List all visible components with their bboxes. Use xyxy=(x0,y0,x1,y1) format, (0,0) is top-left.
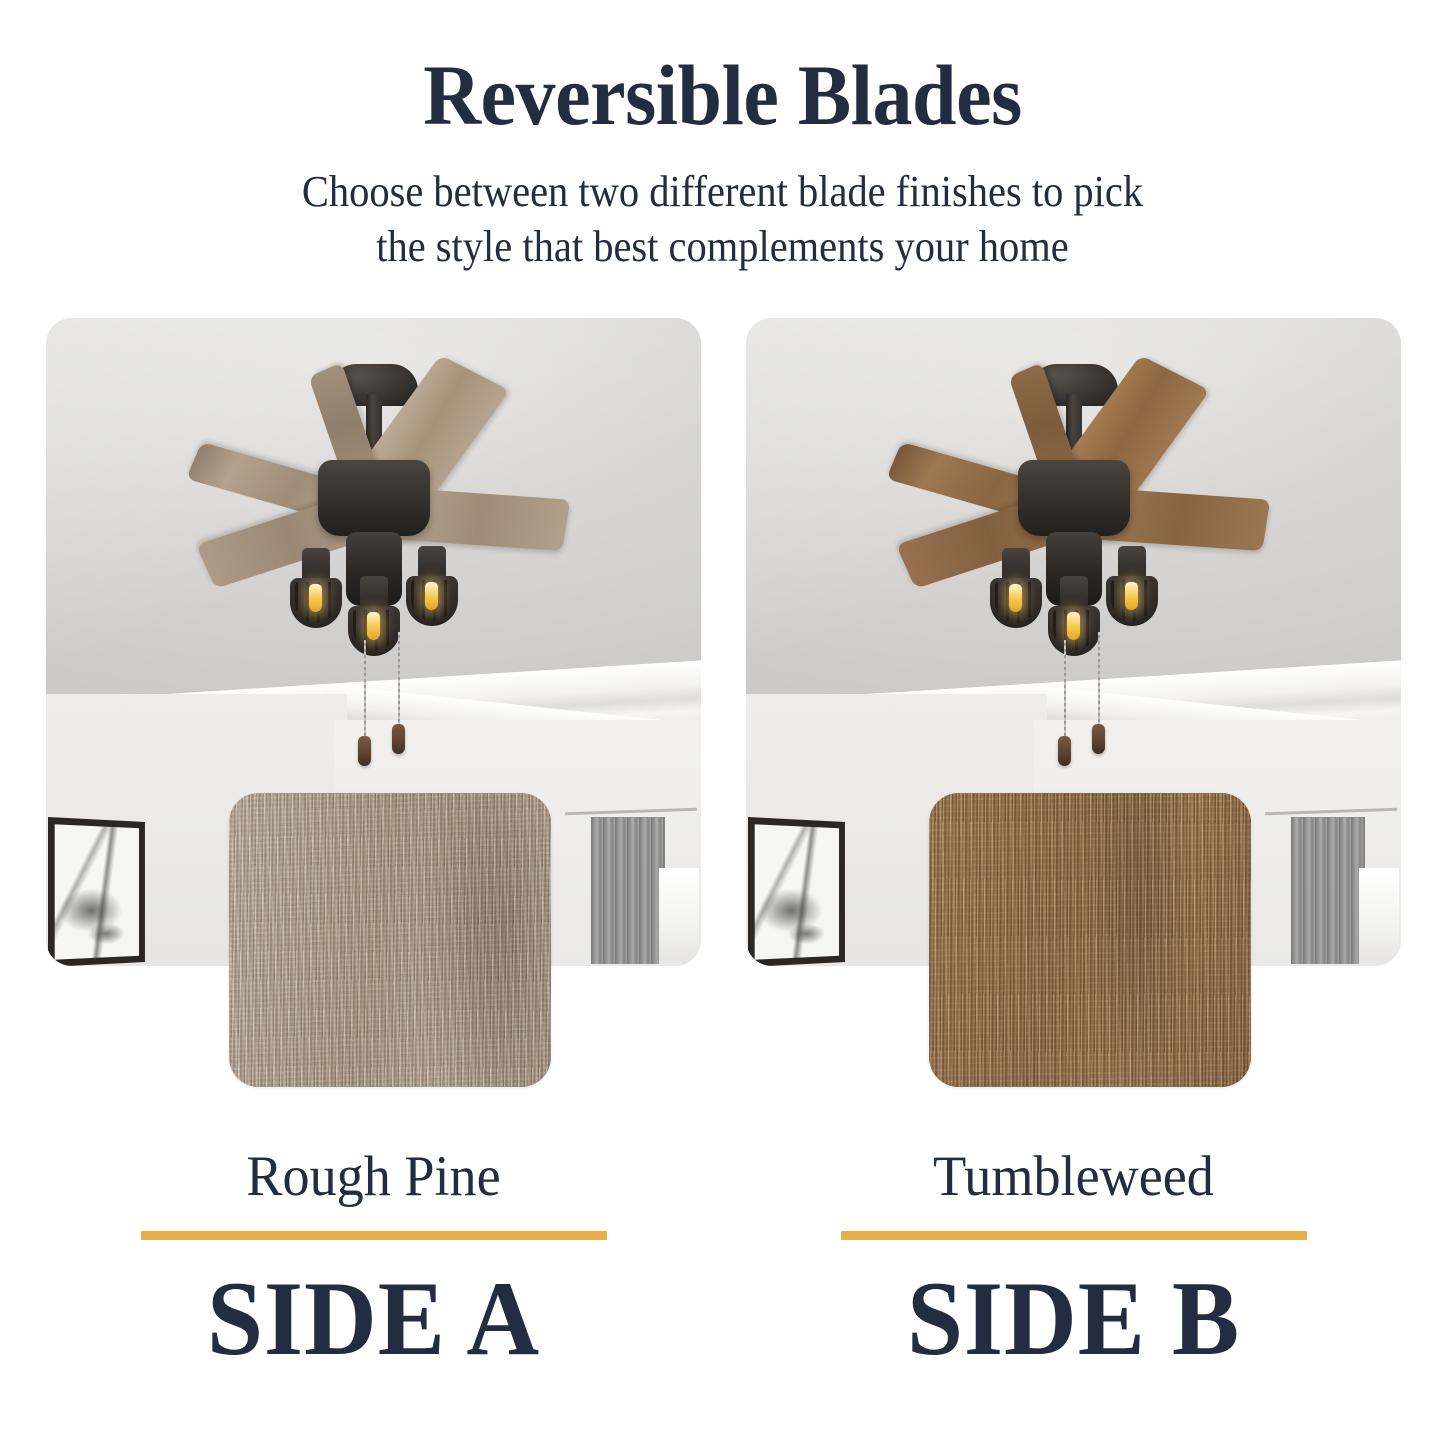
art-artwork xyxy=(755,824,839,959)
pull-chain xyxy=(1064,640,1066,740)
page-title: Reversible Blades xyxy=(51,52,1395,138)
light-bulb xyxy=(367,612,380,640)
gold-divider-rule xyxy=(141,1231,607,1240)
light-neck xyxy=(360,576,388,610)
pull-chain-knob xyxy=(1092,724,1105,754)
page-subtitle: Choose between two different blade finis… xyxy=(58,164,1387,275)
pull-chain-knob xyxy=(392,724,405,754)
header: Reversible Blades Choose between two dif… xyxy=(0,0,1445,275)
fan-light xyxy=(1048,576,1100,658)
light-neck xyxy=(418,546,446,580)
fan-motor-housing xyxy=(318,460,430,536)
light-neck xyxy=(1118,546,1146,580)
swatch-grain-texture xyxy=(929,793,1251,1087)
fan-light xyxy=(1106,546,1158,628)
pull-chain xyxy=(364,640,366,740)
framed-art xyxy=(748,817,845,966)
finish-name-label: Tumbleweed xyxy=(762,1148,1384,1205)
finish-swatch-rough-pine xyxy=(229,793,551,1087)
pull-chain-knob xyxy=(358,736,371,766)
finish-swatch-tumbleweed xyxy=(929,793,1251,1087)
window-pane xyxy=(659,868,699,964)
infographic-page: Reversible Blades Choose between two dif… xyxy=(0,0,1445,1445)
subtitle-line-2: the style that best complements your hom… xyxy=(58,219,1387,274)
light-bulb xyxy=(1067,612,1080,640)
light-bulb xyxy=(1125,582,1138,610)
gold-divider-rule xyxy=(841,1231,1307,1240)
light-bulb xyxy=(309,584,322,612)
comparison-columns: Rough Pine SIDE A xyxy=(0,318,1445,1418)
caption-side-a: Rough Pine SIDE A xyxy=(46,1148,701,1372)
curtain xyxy=(1291,817,1365,964)
caption-side-b: Tumbleweed SIDE B xyxy=(746,1148,1401,1372)
swatch-grain-texture xyxy=(229,793,551,1087)
curtain xyxy=(591,817,665,964)
light-neck xyxy=(302,548,330,582)
light-bulb xyxy=(1009,584,1022,612)
fan-light xyxy=(290,548,342,630)
panel-side-a: Rough Pine SIDE A xyxy=(46,318,701,1418)
fan-motor-housing xyxy=(1018,460,1130,536)
framed-art xyxy=(48,817,145,966)
pull-chain xyxy=(398,632,400,728)
side-label: SIDE B xyxy=(762,1266,1384,1372)
side-label: SIDE A xyxy=(62,1266,684,1372)
subtitle-line-1: Choose between two different blade finis… xyxy=(58,164,1387,219)
light-bulb xyxy=(425,582,438,610)
pull-chain xyxy=(1098,632,1100,728)
fan-light xyxy=(348,576,400,658)
fan-light xyxy=(990,548,1042,630)
pull-chain-knob xyxy=(1058,736,1071,766)
art-artwork xyxy=(55,824,139,959)
panel-side-b: Tumbleweed SIDE B xyxy=(746,318,1401,1418)
window-pane xyxy=(1359,868,1399,964)
finish-name-label: Rough Pine xyxy=(62,1148,684,1205)
light-neck xyxy=(1002,548,1030,582)
fan-light xyxy=(406,546,458,628)
light-neck xyxy=(1060,576,1088,610)
